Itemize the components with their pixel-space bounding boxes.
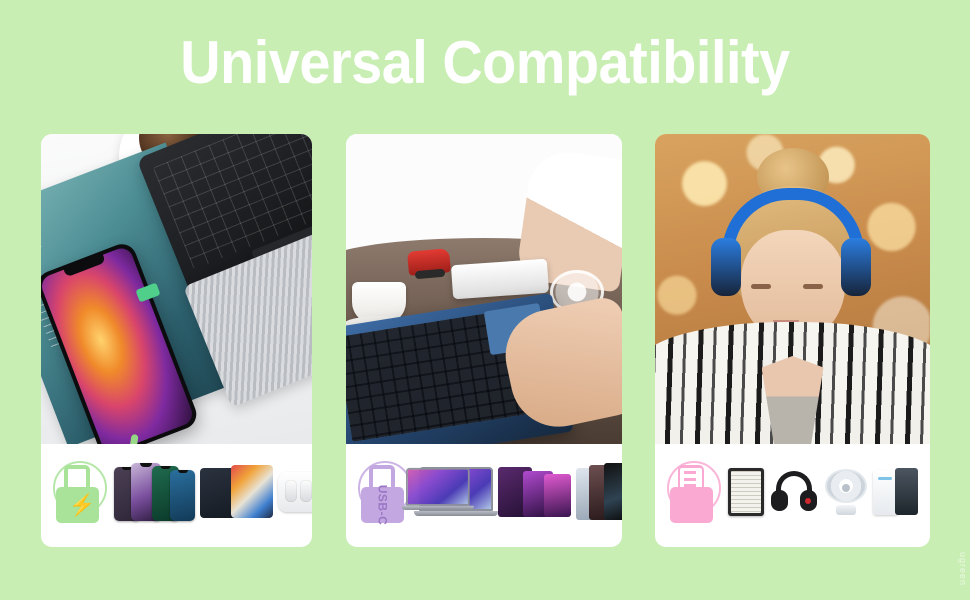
card-photo-headphones-woman [655, 134, 930, 444]
macbook-screen [406, 468, 470, 506]
usb-a-tine-1 [684, 471, 696, 474]
lightning-connector-icon: ⚡ [47, 459, 109, 525]
feature-card-lightning: E ⚡ [41, 134, 312, 547]
toy-car-shape [407, 248, 451, 276]
usb-c-label-wrap: USB-C [361, 487, 404, 523]
headphone-earcup-left [711, 238, 741, 296]
macbook-base [414, 511, 498, 516]
e-reader [728, 468, 764, 516]
airpods [278, 472, 312, 512]
fan-stand [836, 505, 856, 515]
portable-fan [824, 469, 868, 515]
power-bank-dark [895, 468, 918, 515]
ipad-mini-c [544, 474, 571, 517]
magazine-letter: E [41, 219, 47, 263]
notch [160, 466, 171, 470]
iphone-group [114, 463, 195, 521]
usb-c-connector-icon: USB-C [352, 459, 414, 525]
notch [140, 463, 152, 467]
macbook-base [401, 506, 473, 510]
white-tablet-shape [450, 259, 548, 300]
ipad-group [200, 465, 273, 518]
lightning-bolt-icon: ⚡ [69, 495, 86, 517]
headphone-earcup-right [841, 238, 871, 296]
connector-body [670, 487, 713, 523]
feature-card-usb-c: USB-C [346, 134, 622, 547]
eye-right [803, 284, 823, 289]
usb-c-label: USB-C [375, 484, 389, 525]
iphone-blue [170, 470, 195, 521]
brand-watermark: ugreen [958, 552, 968, 586]
power-bank [873, 468, 919, 516]
compatible-device-strip-usb-a [655, 444, 930, 547]
compatible-device-strip-lightning: ⚡ [41, 444, 312, 547]
card-photo-lightning-desk: E [41, 134, 312, 444]
feature-card-usb-a [655, 134, 930, 547]
headphone-logo-dot [805, 498, 811, 504]
card-photo-laptop-desk [346, 134, 622, 444]
feature-card-row: E ⚡ [41, 134, 930, 547]
headphones [769, 470, 819, 514]
usb-a-connector-icon [661, 459, 723, 525]
fan-hub [842, 484, 850, 492]
page-title: Universal Compatibility [34, 26, 936, 100]
ipad-front [231, 465, 273, 518]
macbook-back [406, 468, 470, 510]
macbook-group [419, 467, 493, 516]
headphone-earcup-left [771, 490, 788, 511]
usb-a-tine-2 [684, 478, 696, 481]
galaxy-black [604, 463, 622, 520]
promo-banner: Universal Compatibility E [0, 0, 970, 600]
power-bank-led [878, 477, 892, 480]
e-reader-screen [731, 471, 761, 513]
ipad-mini-group [498, 467, 571, 517]
galaxy-group [576, 463, 622, 520]
compatible-device-strip-usb-c: USB-C [346, 444, 622, 547]
notch [178, 470, 188, 474]
eye-left [751, 284, 771, 289]
